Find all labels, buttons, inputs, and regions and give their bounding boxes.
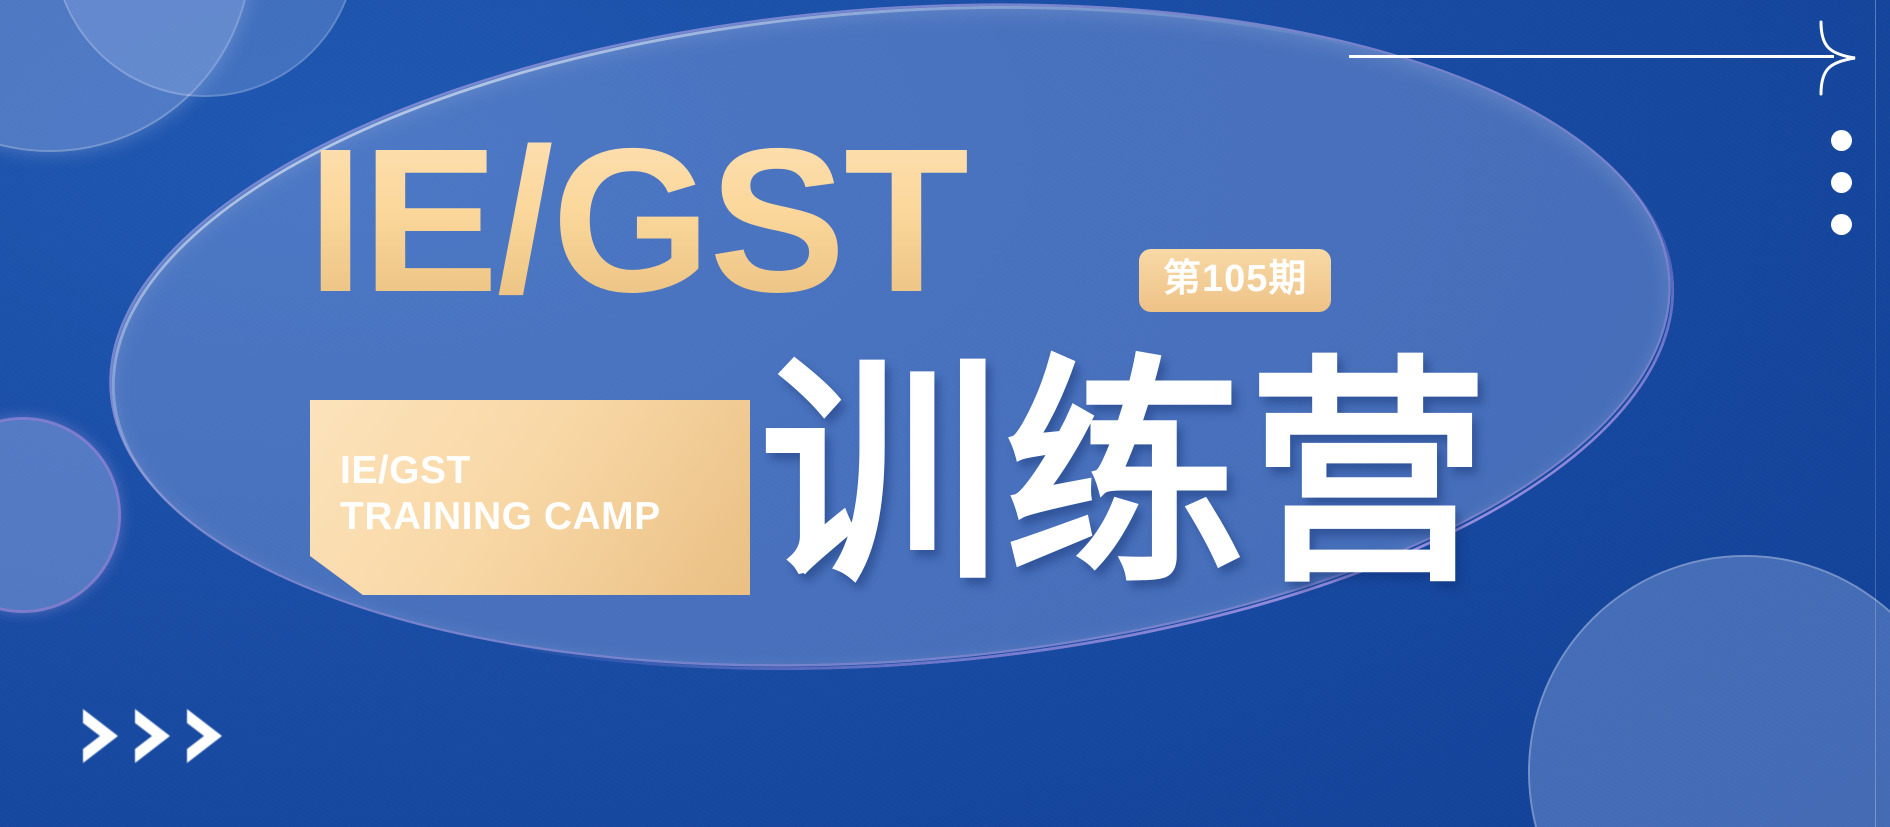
dot-3 <box>1831 214 1852 235</box>
chevron-right-icon-3 <box>182 705 228 767</box>
arrow-right-icon <box>1815 18 1859 98</box>
dot-1 <box>1831 130 1852 151</box>
dot-2 <box>1831 172 1852 193</box>
promo-banner: IE/GST 第105期 IE/GST TRAINING CAMP 训练营 <box>0 0 1890 827</box>
right-edge-rule <box>1875 0 1876 827</box>
subtitle-chinese: 训练营 <box>760 355 1492 595</box>
decorative-circle-bottom-right <box>1530 557 1890 827</box>
arrow-line <box>1349 55 1834 58</box>
chevron-right-icon-2 <box>130 705 176 767</box>
camp-box-line-1: IE/GST <box>340 448 750 494</box>
chevron-right-icon-1 <box>78 705 124 767</box>
page-title: IE/GST <box>307 118 967 323</box>
episode-badge: 第105期 <box>1139 249 1331 312</box>
chevron-group <box>78 705 228 767</box>
decorative-circle-left <box>0 420 118 610</box>
training-camp-box: IE/GST TRAINING CAMP <box>310 400 750 595</box>
camp-box-line-2: TRAINING CAMP <box>340 494 750 540</box>
dots-indicator <box>1831 130 1852 235</box>
